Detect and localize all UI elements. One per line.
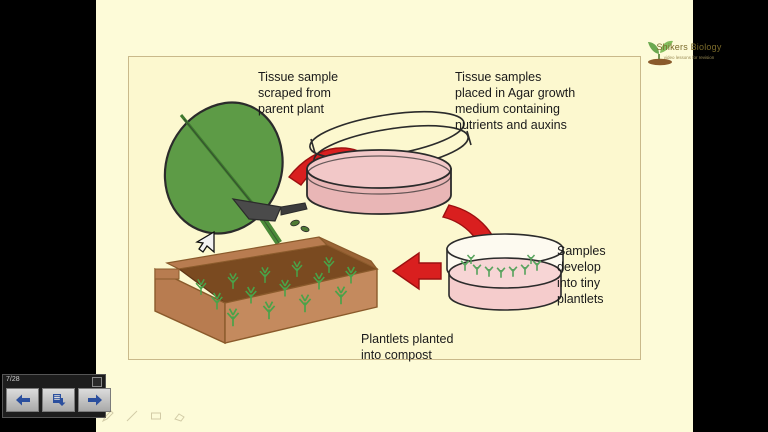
brand-name: Shikers Biology <box>639 42 739 52</box>
mouse-cursor <box>196 231 216 253</box>
caption-agar: Tissue samples placed in Agar growth med… <box>455 69 575 133</box>
pen-tool-icon[interactable] <box>102 410 114 422</box>
brand-logo: Shikers Biology video lessons for revisi… <box>639 30 739 68</box>
leaf-illustration <box>165 103 283 243</box>
compost-tray <box>155 237 377 343</box>
screen: Shikers Biology video lessons for revisi… <box>0 0 768 432</box>
drawing-tool-tray[interactable] <box>96 404 222 428</box>
save-download-icon <box>50 393 68 407</box>
page-counter: 7/28 <box>6 376 20 383</box>
save-slide-button[interactable] <box>42 388 75 412</box>
caption-scrape: Tissue sample scraped from parent plant <box>258 69 338 117</box>
straight-red-arrow-to-tray <box>393 253 441 289</box>
open-petri-dish <box>307 103 471 214</box>
line-tool-icon[interactable] <box>126 410 138 422</box>
arrow-left-icon <box>14 393 32 407</box>
caption-compost: Plantlets planted into compost <box>361 331 453 363</box>
previous-slide-button[interactable] <box>6 388 39 412</box>
caption-plantlets: Samples develop into tiny plantlets <box>557 243 640 307</box>
eraser-tool-icon[interactable] <box>174 410 186 422</box>
brand-tagline: video lessons for revision <box>639 55 739 60</box>
diagram-panel: Tissue sample scraped from parent plant … <box>128 56 641 360</box>
closed-petri-dish <box>447 234 563 310</box>
rectangle-tool-icon[interactable] <box>150 410 162 422</box>
slide-canvas: Shikers Biology video lessons for revisi… <box>96 0 693 432</box>
player-toolbar[interactable]: 7/28 <box>2 374 106 418</box>
toolbar-menu-button[interactable] <box>92 377 102 387</box>
tissue-scrapings <box>290 219 310 233</box>
